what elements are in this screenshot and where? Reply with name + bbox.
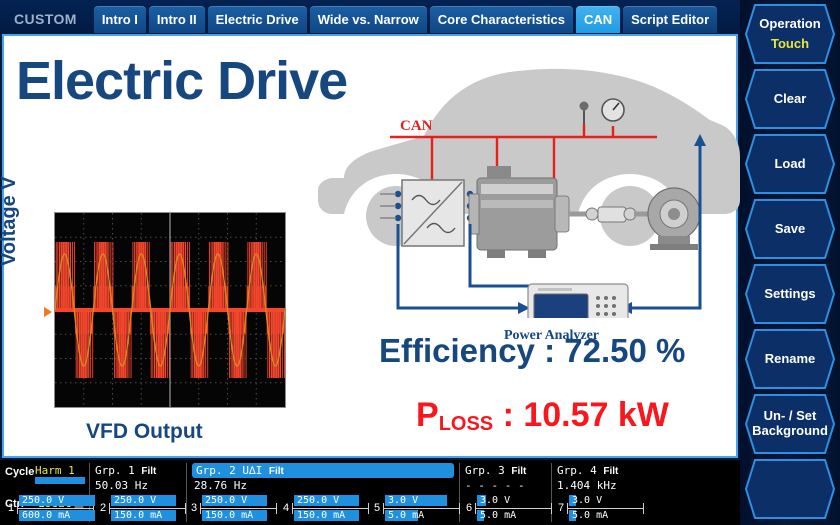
softkey-rename[interactable]: Rename: [744, 328, 836, 390]
softkey-operation[interactable]: Operation Touch: [744, 3, 836, 65]
trigger-level-marker: [44, 307, 52, 317]
channel-strip-4[interactable]: 4250.0 V150.0 mA: [283, 494, 371, 522]
channel-range-rail: [383, 508, 460, 509]
status-bar: Cycle Harm 1 Ctrl Local Grp. 1 Filt 50.0…: [0, 460, 740, 525]
channel-strip-5[interactable]: 53.0 V5.0 mA: [374, 494, 462, 522]
channel-strip-2[interactable]: 2250.0 V150.0 mA: [100, 494, 188, 522]
group-3-title[interactable]: Grp. 3 Filt: [465, 464, 526, 477]
ploss-subscript: LOSS: [439, 413, 493, 435]
electric-motor-icon: [469, 166, 569, 258]
inverter-icon: [402, 180, 464, 246]
softkey-settings[interactable]: Settings: [744, 263, 836, 325]
channel-current-range: 5.0 mA: [569, 510, 576, 521]
channel-number: 6: [466, 502, 472, 514]
waveform-display[interactable]: [54, 212, 286, 408]
channel-voltage-range: 250.0 V: [294, 495, 359, 506]
channel-range-cap-right: [185, 503, 186, 514]
channel-strip-7[interactable]: 73.0 V5.0 mA: [558, 494, 646, 522]
channel-voltage-range: 250.0 V: [202, 495, 267, 506]
channel-current-range: 5.0 mA: [385, 510, 418, 521]
softkey-clear-label: Clear: [774, 92, 807, 107]
channel-current-range: 150.0 mA: [202, 510, 267, 521]
channel-voltage-range: 3.0 V: [477, 495, 486, 506]
softkey-operation-value: Touch: [771, 37, 809, 52]
softkey-sidebar: Operation Touch Clear Load Save Settin: [740, 0, 840, 525]
softkey-settings-label: Settings: [764, 287, 815, 302]
channel-number: 4: [283, 502, 289, 514]
waveform-svg: [55, 213, 285, 407]
group-2-frequency: 28.76 Hz: [194, 479, 247, 492]
softkey-unset-background-label: Un- / SetBackground: [752, 409, 828, 439]
channel-range-cap-right: [551, 503, 552, 514]
channel-range-rail: [567, 508, 644, 509]
group-1-frequency: 50.03 Hz: [95, 479, 148, 492]
group-3-frequency: - - - - -: [465, 479, 525, 492]
efficiency-readout: Efficiency : 72.50 %: [379, 332, 685, 370]
powertrain-diagram: CAN: [272, 28, 742, 318]
channel-number: 7: [558, 502, 564, 514]
channel-range-cap-right: [276, 503, 277, 514]
channel-range-cap-right: [643, 503, 644, 514]
tab-intro-1[interactable]: Intro I: [94, 6, 146, 33]
gauge-icon: [602, 99, 624, 121]
channel-current-range: 600.0 mA: [19, 510, 95, 521]
channel-voltage-range: 3.0 V: [385, 495, 447, 506]
channel-current-range: 5.0 mA: [477, 510, 484, 521]
group-2-title[interactable]: Grp. 2 U∆I Filt: [192, 463, 454, 478]
cycle-value[interactable]: Harm 1: [35, 464, 75, 477]
custom-label: CUSTOM: [6, 11, 91, 33]
channel-strip-6[interactable]: 63.0 V5.0 mA: [466, 494, 554, 522]
softkey-load[interactable]: Load: [744, 133, 836, 195]
group-4-title[interactable]: Grp. 4 Filt: [557, 464, 618, 477]
softkey-empty[interactable]: [744, 458, 836, 520]
channel-voltage-range: 250.0 V: [19, 495, 95, 506]
car-diagram-svg: CAN: [272, 28, 742, 318]
ploss-separator: :: [493, 396, 523, 434]
scope-y-axis-label: Voltage V: [0, 176, 21, 266]
channel-range-rail: [109, 508, 186, 509]
channel-range-cap-right: [459, 503, 460, 514]
softkey-shape: [744, 458, 836, 520]
softkey-clear[interactable]: Clear: [744, 68, 836, 130]
channel-strip-3[interactable]: 3250.0 V150.0 mA: [191, 494, 279, 522]
application-window: CUSTOM Intro I Intro II Electric Drive W…: [0, 0, 840, 525]
ploss-value: 10.57 kW: [523, 396, 669, 434]
channel-current-range: 150.0 mA: [294, 510, 359, 521]
group-1-title[interactable]: Grp. 1 Filt: [95, 464, 156, 477]
channel-voltage-range: 250.0 V: [111, 495, 176, 506]
softkey-unset-background[interactable]: Un- / SetBackground: [744, 393, 836, 455]
group-4-frequency: 1.404 kHz: [557, 479, 617, 492]
efficiency-label: Efficiency :: [379, 332, 555, 369]
softkey-operation-label: Operation: [759, 17, 820, 32]
scope-caption: VFD Output: [86, 420, 203, 444]
channel-range-rail: [292, 508, 369, 509]
channel-range-rail: [475, 508, 552, 509]
softkey-rename-label: Rename: [765, 352, 816, 367]
softkey-load-label: Load: [774, 157, 805, 172]
channel-range-rail: [17, 508, 94, 509]
softkey-shape: [744, 3, 836, 65]
cycle-label: Cycle: [5, 466, 34, 478]
softkey-save-label: Save: [775, 222, 805, 237]
channel-number: 3: [191, 502, 197, 514]
channel-strip-1[interactable]: 1250.0 V600.0 mA: [8, 494, 96, 522]
channel-voltage-range: 3.0 V: [569, 495, 576, 506]
tab-intro-2[interactable]: Intro II: [149, 6, 205, 33]
channel-current-range: 150.0 mA: [111, 510, 176, 521]
can-bus-label: CAN: [400, 118, 433, 134]
channel-number: 5: [374, 502, 380, 514]
power-analyzer-icon: [528, 284, 628, 318]
ploss-symbol: P: [416, 396, 439, 434]
cycle-bar: [35, 477, 85, 484]
channel-range-cap-right: [368, 503, 369, 514]
dynamometer-icon: [648, 188, 700, 250]
power-loss-readout: PLOSS : 10.57 kW: [416, 396, 669, 435]
channel-range-rail: [200, 508, 277, 509]
softkey-save[interactable]: Save: [744, 198, 836, 260]
channel-number: 2: [100, 502, 106, 514]
channel-number: 1: [8, 502, 14, 514]
content-canvas: Electric Drive CAN: [2, 34, 738, 458]
efficiency-value: 72.50 %: [564, 332, 685, 369]
